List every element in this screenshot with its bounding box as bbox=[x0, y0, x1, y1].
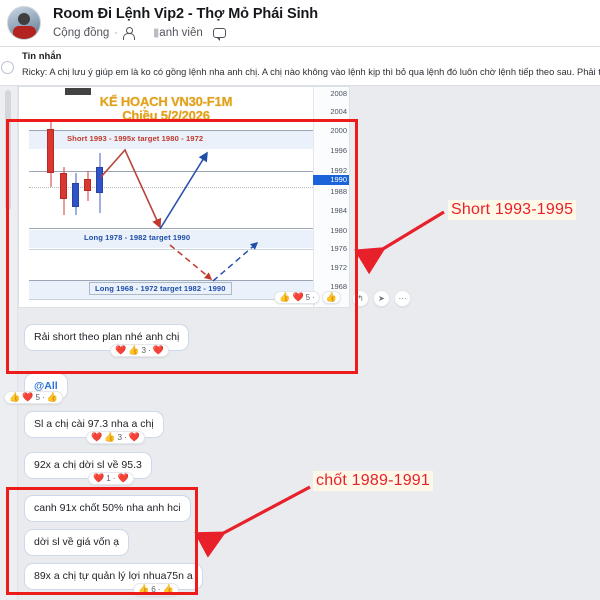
chart-label-short: Short 1993 - 1995x target 1980 - 1972 bbox=[67, 134, 203, 143]
thumbsup-icon: 👍 bbox=[163, 585, 174, 594]
header-subtitle: Cộng đồng · ▮anh viên bbox=[53, 26, 318, 41]
avatar[interactable] bbox=[7, 6, 41, 40]
pinned-notice[interactable]: Tin nhắn Ricky: A chị lưu ý giúp em là k… bbox=[0, 47, 600, 86]
message-hover-actions[interactable]: ↰ ➤ ··· bbox=[352, 290, 411, 307]
chart-price-axis: 2008 2004 2000 1996 1992 1990 1988 1984 … bbox=[313, 87, 349, 307]
message-reactions[interactable]: 👍 ❤️ 5 · 👍 bbox=[4, 391, 63, 404]
page-title: Room Đi Lệnh Vip2 - Thợ Mỏ Phái Sinh bbox=[53, 6, 318, 23]
notice-title: Tin nhắn bbox=[22, 51, 596, 63]
annotation-chot-label: chốt 1989-1991 bbox=[313, 471, 433, 491]
message-thread: KẾ HOẠCH VN30-F1M Chiều 5/2/2026 bbox=[0, 86, 600, 600]
notice-body: Ricky: A chị lưu ý giúp em là ko có gồng… bbox=[22, 66, 596, 79]
reaction-count: 5 bbox=[35, 393, 40, 402]
subtitle-separator: · bbox=[114, 26, 118, 41]
chat-header: Room Đi Lệnh Vip2 - Thợ Mỏ Phái Sinh Cộn… bbox=[0, 0, 600, 47]
screenshot-root: Room Đi Lệnh Vip2 - Thợ Mỏ Phái Sinh Cộn… bbox=[0, 0, 600, 600]
chart-title-line1: KẾ HOẠCH VN30-F1M bbox=[19, 95, 313, 109]
reaction-sep: · bbox=[113, 474, 116, 483]
reaction-sep: · bbox=[158, 585, 161, 594]
axis-tick-1980: 1980 bbox=[330, 227, 347, 235]
message-reactions[interactable]: ❤️ 👍 3 · ❤️ bbox=[110, 344, 169, 357]
axis-tick-1992: 1992 bbox=[330, 167, 347, 175]
thumbsup-icon: 👍 bbox=[104, 433, 115, 442]
heart-icon: ❤️ bbox=[115, 346, 126, 355]
info-icon bbox=[1, 61, 14, 74]
reaction-sep: · bbox=[42, 393, 45, 402]
reaction-sep: · bbox=[148, 346, 151, 355]
thumbsup-icon: 👍 bbox=[47, 393, 58, 402]
annotation-short-label: Short 1993-1995 bbox=[448, 200, 576, 220]
list-item[interactable]: canh 91x chốt 50% nha anh hci bbox=[24, 495, 191, 522]
chat-bubble-icon[interactable] bbox=[213, 28, 226, 38]
thread-scrollbar[interactable] bbox=[0, 86, 18, 600]
person-icon bbox=[123, 27, 134, 39]
thumbsup-icon: 👍 bbox=[326, 293, 337, 302]
axis-tick-2004: 2004 bbox=[330, 108, 347, 116]
list-item[interactable]: dời sl về giá vốn ạ bbox=[24, 529, 129, 556]
reaction-count: 1 bbox=[106, 474, 111, 483]
chart-plot-area: Short 1993 - 1995x target 1980 - 1972 Lo… bbox=[29, 109, 315, 305]
forward-icon[interactable]: ➤ bbox=[373, 290, 390, 307]
chart-label-long1: Long 1978 - 1982 target 1990 bbox=[84, 233, 190, 242]
heart-icon: ❤️ bbox=[153, 346, 164, 355]
chart-reaction-sep: · bbox=[312, 293, 315, 302]
axis-current-price: 1990 bbox=[313, 175, 349, 185]
message-reactions[interactable]: ❤️ 👍 3 · ❤️ bbox=[86, 431, 145, 444]
scrollbar-thumb[interactable] bbox=[5, 90, 11, 210]
reaction-count: 3 bbox=[141, 346, 146, 355]
chart-reaction-count: 5 bbox=[306, 293, 310, 302]
axis-tick-1984: 1984 bbox=[330, 207, 347, 215]
header-text-group: Room Đi Lệnh Vip2 - Thợ Mỏ Phái Sinh Cộn… bbox=[53, 6, 318, 41]
member-count: ▮anh viên bbox=[153, 26, 203, 41]
chart-reaction-group[interactable]: 👍 ❤️ 5 · bbox=[274, 291, 320, 304]
message-reactions[interactable]: 👍 6 · 👍 bbox=[133, 583, 179, 596]
reaction-sep: · bbox=[124, 433, 127, 442]
axis-tick-2000: 2000 bbox=[330, 127, 347, 135]
reply-icon[interactable]: ↰ bbox=[352, 290, 369, 307]
axis-tick-1976: 1976 bbox=[330, 245, 347, 253]
thumbsup-icon: 👍 bbox=[138, 585, 149, 594]
chart-label-long2: Long 1968 - 1972 target 1982 - 1990 bbox=[89, 282, 232, 295]
message-reactions[interactable]: ❤️ 1 · ❤️ bbox=[88, 472, 134, 485]
chart-reaction-own[interactable]: 👍 bbox=[322, 291, 341, 304]
thumbsup-icon: 👍 bbox=[128, 346, 139, 355]
chart-reactions[interactable]: 👍 ❤️ 5 · 👍 bbox=[274, 291, 341, 304]
thumbsup-icon: 👍 bbox=[9, 393, 20, 402]
heart-icon: ❤️ bbox=[93, 474, 104, 483]
more-icon[interactable]: ··· bbox=[394, 290, 411, 307]
reaction-count: 3 bbox=[117, 433, 122, 442]
thumbsup-icon: 👍 bbox=[279, 293, 290, 302]
chart-message-card[interactable]: KẾ HOẠCH VN30-F1M Chiều 5/2/2026 bbox=[18, 86, 350, 308]
axis-tick-1972: 1972 bbox=[330, 264, 347, 272]
heart-icon: ❤️ bbox=[129, 433, 140, 442]
chart-canvas: KẾ HOẠCH VN30-F1M Chiều 5/2/2026 bbox=[19, 87, 349, 307]
heart-icon: ❤️ bbox=[292, 293, 303, 302]
heart-icon: ❤️ bbox=[118, 474, 129, 483]
axis-tick-1988: 1988 bbox=[330, 188, 347, 196]
heart-icon: ❤️ bbox=[91, 433, 102, 442]
axis-tick-2008: 2008 bbox=[330, 90, 347, 98]
axis-tick-1968: 1968 bbox=[330, 283, 347, 291]
axis-tick-1996: 1996 bbox=[330, 147, 347, 155]
community-label: Cộng đồng bbox=[53, 26, 109, 41]
heart-icon: ❤️ bbox=[22, 393, 33, 402]
reaction-count: 6 bbox=[151, 585, 156, 594]
